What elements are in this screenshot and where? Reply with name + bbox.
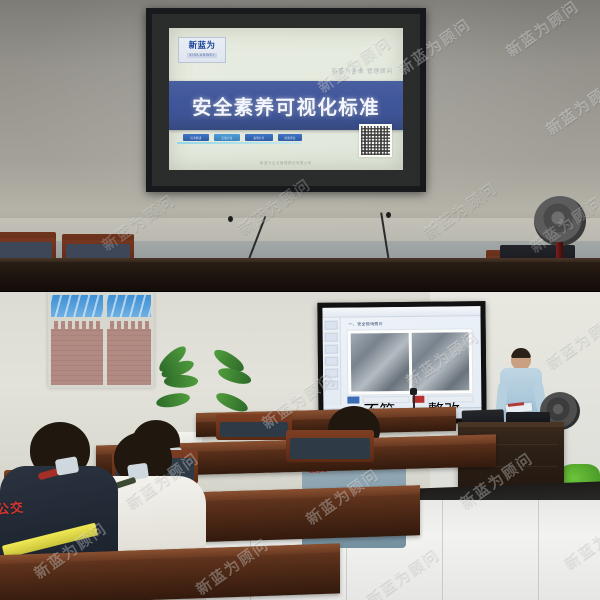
slide-title: 安全素养可视化标准: [192, 91, 380, 120]
logo-sub-text: XINLANWEI: [187, 53, 216, 58]
powerpoint-slide-title: 一、安全现场照片: [349, 321, 383, 327]
logo-main-text: 新蓝为: [189, 42, 216, 51]
powerpoint-ribbon: [322, 306, 480, 318]
window-mullion-vertical: [103, 295, 107, 385]
window-mullion-horizontal: [51, 317, 151, 321]
slide-tab-underline: [177, 142, 301, 144]
projection-screen-inner: 新蓝为 XINLANWEI 新蓝为咨询 管理顾问 安全素养可视化标准 标准概述 …: [152, 14, 420, 186]
powerpoint-slide-images: [347, 328, 474, 395]
slide-footnote: 新蓝为企业管理顾问有限公司: [169, 160, 403, 165]
caption-left: 不符合项说明: [362, 396, 409, 403]
caption-right: 整改后标准状态: [427, 395, 474, 402]
window: [48, 292, 154, 388]
glasses-icon: [512, 357, 530, 360]
conference-table: [0, 262, 600, 292]
chair: [286, 430, 374, 462]
projection-screen-frame: 新蓝为 XINLANWEI 新蓝为咨询 管理顾问 安全素养可视化标准 标准概述 …: [146, 8, 426, 192]
slide-nav-tabs: 标准概述 实施方法 案例分享 效果评估: [183, 134, 302, 141]
company-logo: 新蓝为 XINLANWEI: [178, 37, 226, 63]
slide-faint-header: 新蓝为咨询 管理顾问: [332, 67, 393, 75]
top-panel-photo: 新蓝为 XINLANWEI 新蓝为咨询 管理顾问 安全素养可视化标准 标准概述 …: [0, 0, 600, 292]
powerpoint-thumbnail-pane: [323, 318, 342, 406]
slide-tab-1: 标准概述: [183, 134, 209, 141]
window-sky: [51, 295, 151, 317]
slide-tab-4: 效果评估: [278, 134, 302, 141]
chair: [216, 414, 292, 440]
qr-code: [359, 124, 392, 157]
presentation-slide: 新蓝为 XINLANWEI 新蓝为咨询 管理顾问 安全素养可视化标准 标准概述 …: [169, 28, 403, 170]
slide-title-band: 安全素养可视化标准: [169, 81, 403, 130]
screenshot-root: 新蓝为 XINLANWEI 新蓝为咨询 管理顾问 安全素养可视化标准 标准概述 …: [0, 0, 600, 600]
slide-tab-2: 实施方法: [214, 134, 240, 141]
slide-tab-3: 案例分享: [245, 134, 273, 141]
slide-photo-left: [351, 333, 409, 392]
slide-photo-right: [411, 332, 469, 391]
powerpoint-slide: 一、安全现场照片 不符合项说明 整改后标准状态: [322, 306, 481, 420]
bottom-panel-photo: 一、安全现场照片 不符合项说明 整改后标准状态: [0, 292, 600, 600]
microphone: [228, 216, 268, 264]
uniform-logo-text: 公交: [0, 497, 25, 519]
